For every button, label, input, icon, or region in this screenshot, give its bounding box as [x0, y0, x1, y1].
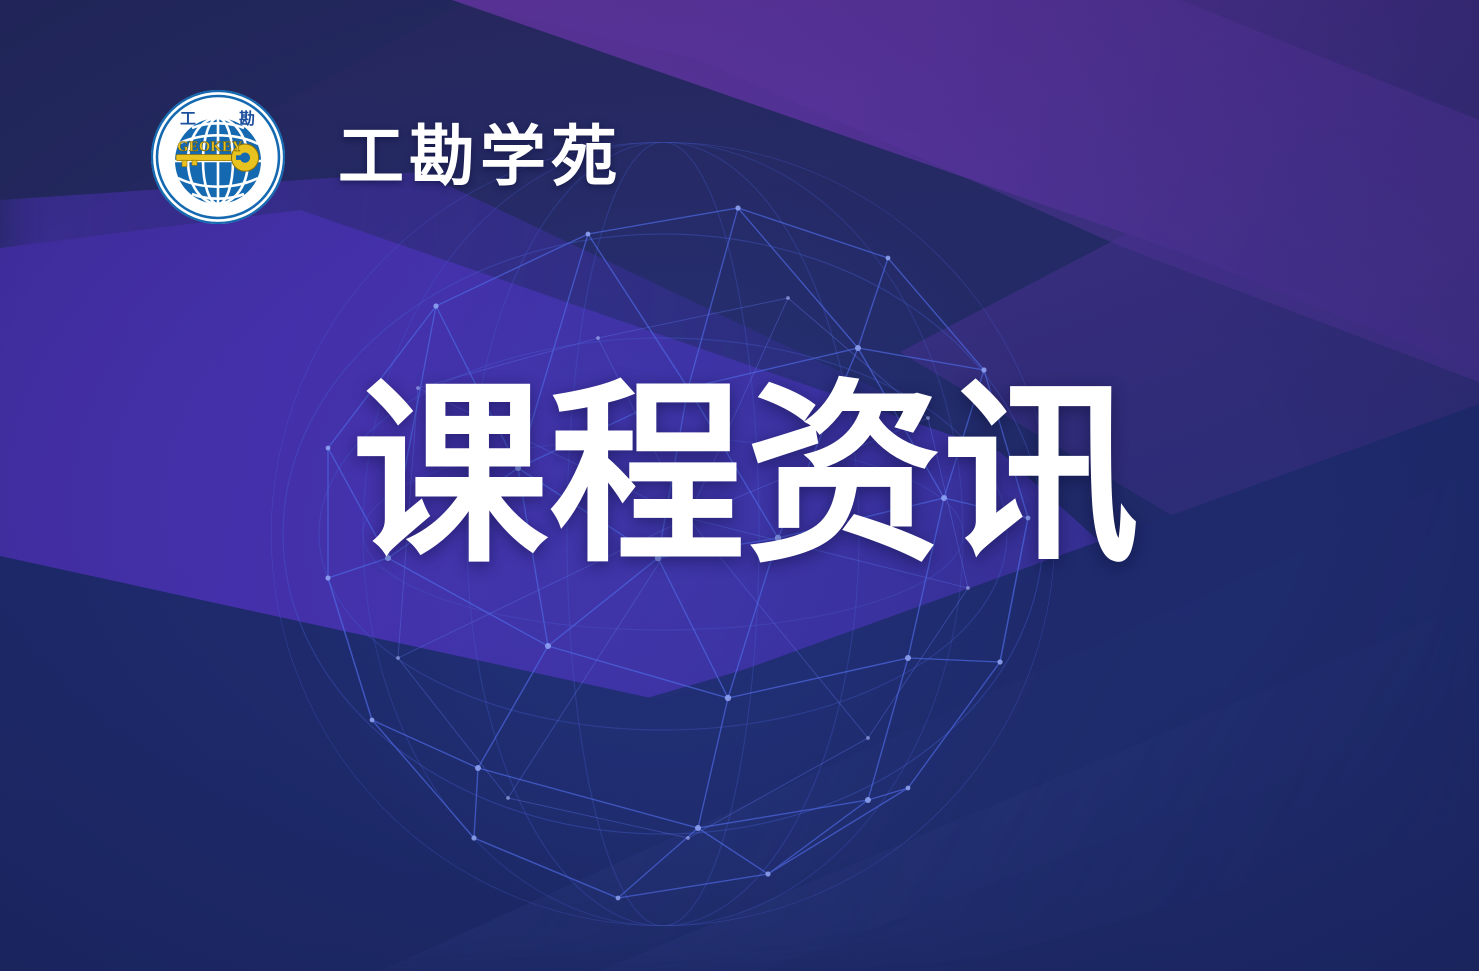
brand-header: GEOKEY 工 勘 工勘学苑	[150, 89, 622, 225]
logo-char-gong: 工	[180, 109, 196, 128]
geokey-globe-logo-icon: GEOKEY 工 勘	[150, 89, 286, 225]
logo-geokey-text: GEOKEY	[177, 139, 243, 155]
brand-name-text: 工勘学苑	[338, 124, 622, 190]
page-title: 课程资讯	[352, 378, 1140, 574]
logo-char-kan: 勘	[239, 109, 255, 128]
poster-canvas: GEOKEY 工 勘 工勘学苑 课程资讯	[0, 0, 1479, 971]
